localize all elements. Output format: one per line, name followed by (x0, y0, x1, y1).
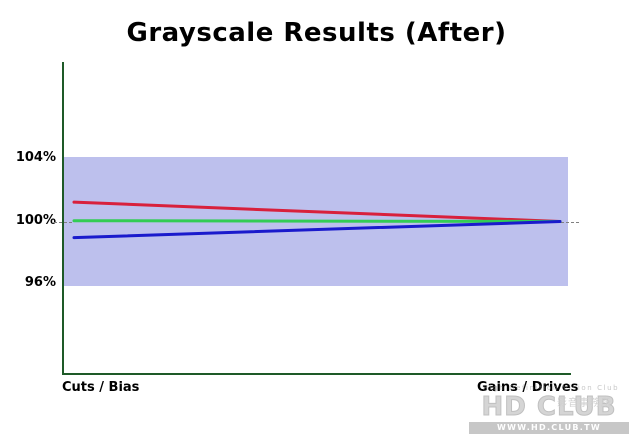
y-axis-tick-labels: 104% 100% 96% (0, 0, 56, 441)
plot-area (62, 62, 571, 375)
watermark-cjk-text: 影音事務所 (557, 394, 612, 409)
x-tick-label-cuts-bias: Cuts / Bias (62, 380, 139, 395)
x-tick-label-gains-drives: Gains / Drives (477, 380, 578, 395)
watermark-url-text: WWW.HD.CLUB.TW (469, 422, 629, 434)
series-lines (62, 62, 571, 375)
y-tick-label-96: 96% (25, 275, 56, 290)
series-line-green (74, 221, 560, 222)
chart-title: Grayscale Results (After) (0, 18, 633, 48)
y-tick-label-104: 104% (16, 150, 56, 165)
y-tick-label-100: 100% (16, 213, 56, 228)
watermark-logo-text: HD CLUB (465, 393, 633, 422)
watermark-url-bar: WWW.HD.CLUB.TW (469, 422, 629, 434)
chart-screenshot: Grayscale Results (After) 104% 100% 96% … (0, 0, 633, 441)
series-line-red (74, 202, 560, 221)
watermark-logo: HD CLUB 影音事務所 (465, 393, 633, 422)
series-line-blue (74, 222, 560, 238)
